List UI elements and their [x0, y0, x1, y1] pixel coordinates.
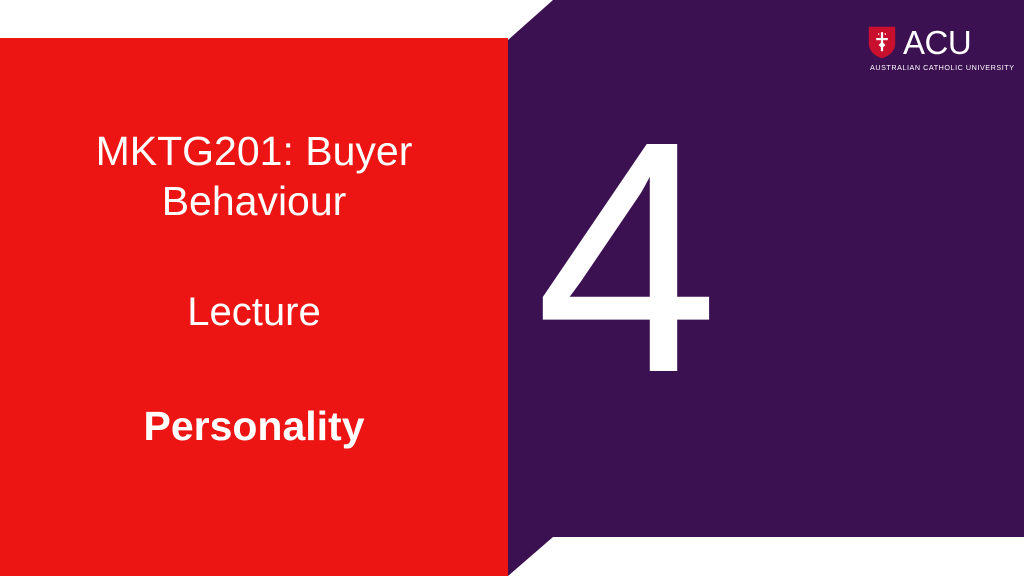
acu-tagline: AUSTRALIAN CATHOLIC UNIVERSITY: [870, 63, 1008, 72]
topic-title: Personality: [52, 402, 456, 451]
acu-wordmark: ACU: [903, 26, 971, 59]
purple-accent-panel-foot: [508, 537, 1024, 576]
acu-logo: ACU AUSTRALIAN CATHOLIC UNIVERSITY: [868, 24, 1008, 74]
course-title: MKTG201: Buyer Behaviour: [52, 126, 456, 226]
title-spacer-lower: [52, 336, 456, 402]
session-type-label: Lecture: [52, 288, 456, 336]
acu-logo-row: ACU: [868, 24, 1008, 60]
title-block: MKTG201: Buyer Behaviour Lecture Persona…: [0, 38, 508, 576]
lecture-number: 4: [534, 92, 714, 422]
title-spacer-upper: [52, 226, 456, 288]
acu-shield-icon: [868, 26, 896, 59]
slide-canvas: MKTG201: Buyer Behaviour Lecture Persona…: [0, 0, 1024, 576]
